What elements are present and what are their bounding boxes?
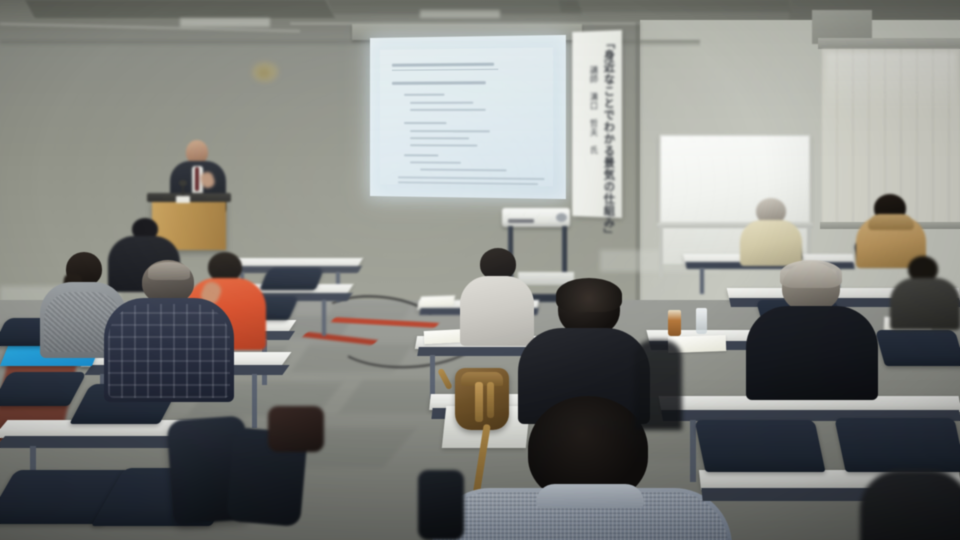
projector-lens-icon — [556, 213, 567, 222]
plaid-pattern — [108, 304, 230, 398]
beverage-bottle — [668, 310, 681, 336]
ceiling-tile — [25, 0, 335, 18]
floor-bag — [268, 406, 324, 452]
slide-line — [410, 144, 477, 146]
attendee-plaid-shirt — [104, 260, 234, 400]
desk-leg — [700, 268, 704, 294]
slide-line — [410, 161, 461, 163]
desk-leg — [430, 355, 435, 399]
shirt-collar — [536, 484, 644, 508]
ceiling-tile — [559, 0, 791, 12]
slide-line — [404, 154, 438, 156]
attendee-grey-hair — [780, 260, 842, 288]
projector — [502, 208, 570, 227]
floor-bag — [418, 470, 464, 540]
slide-line — [392, 81, 486, 84]
slide-title-underline — [392, 69, 498, 71]
projector-vent — [508, 219, 534, 223]
projection-screen — [370, 35, 566, 199]
slide-line — [410, 102, 473, 104]
slide-line — [398, 176, 545, 180]
attendee-torso — [746, 306, 878, 400]
attendee-torso — [890, 278, 960, 330]
chair[interactable] — [694, 420, 825, 472]
projected-slide — [380, 48, 553, 187]
slide-line — [410, 130, 490, 132]
slide-line — [420, 169, 506, 172]
slide-title-text — [392, 63, 494, 67]
chair[interactable] — [875, 330, 960, 366]
banner-speaker: 講師 溝口 哲夫 氏 — [587, 66, 598, 155]
banner-title: 「身近なことでわかる景気の仕組み」 — [602, 37, 617, 241]
attendee-rear-right — [890, 256, 960, 326]
wall-stain — [258, 68, 270, 78]
hood — [868, 214, 914, 230]
drinking-cup — [696, 308, 707, 334]
handout-paper — [419, 295, 455, 306]
slide-line — [404, 94, 445, 96]
chair[interactable] — [834, 418, 960, 472]
slide-line — [404, 122, 447, 124]
slide-line — [398, 181, 538, 185]
event-banner: 「身近なことでわかる景気の仕組み」 講師 溝口 哲夫 氏 — [572, 30, 622, 218]
slide-line — [410, 109, 486, 111]
attendee-foreground-right — [860, 470, 960, 540]
podium-nameplate — [176, 196, 190, 203]
ceiling-light — [420, 10, 500, 18]
desk-leg — [252, 374, 257, 428]
chair[interactable] — [260, 268, 325, 290]
attendee-grey-hair — [148, 262, 190, 280]
presenter-necktie — [195, 167, 199, 191]
photo-scene: 「身近なことでわかる景気の仕組み」 講師 溝口 哲夫 氏 — [0, 0, 960, 540]
attendee-cream-shirt — [740, 198, 802, 264]
attendee-curly-hair — [556, 278, 622, 312]
attendee-silhouette-left-of-center — [634, 340, 682, 430]
desk-leg — [690, 420, 696, 482]
microphone-icon — [179, 180, 187, 186]
ceiling-light — [180, 18, 270, 27]
desk-leg — [322, 300, 326, 336]
slide-line — [410, 137, 469, 139]
window-light-glow — [826, 52, 956, 112]
attendee-grey-hair-dark-jacket — [746, 262, 878, 398]
whiteboard-leg — [659, 226, 663, 278]
blind-headrail — [818, 38, 960, 49]
attendee-torso — [740, 220, 802, 266]
